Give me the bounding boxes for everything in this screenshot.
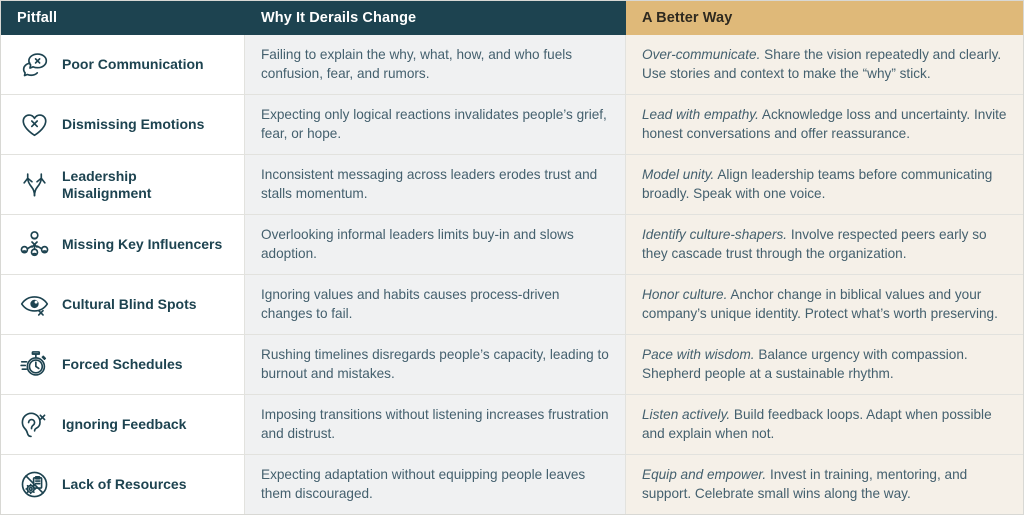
better-way-text: Honor culture. Anchor change in biblical…	[642, 286, 1009, 324]
better-way-lead: Listen actively.	[642, 407, 730, 422]
cell-a-better-way: Listen actively. Build feedback loops. A…	[626, 395, 1023, 454]
eye-x-icon	[17, 288, 51, 322]
better-way-text: Identify culture-shapers. Involve respec…	[642, 226, 1009, 264]
cell-why-it-derails-change: Ignoring values and habits causes proces…	[245, 275, 626, 334]
cell-why-it-derails-change: Expecting only logical reactions invalid…	[245, 95, 626, 154]
table-row: Cultural Blind SpotsIgnoring values and …	[1, 275, 1023, 335]
people-network-x-icon	[17, 228, 51, 262]
cell-pitfall: Poor Communication	[1, 35, 245, 94]
better-way-text: Listen actively. Build feedback loops. A…	[642, 406, 1009, 444]
cell-pitfall: Dismissing Emotions	[1, 95, 245, 154]
cell-a-better-way: Model unity. Align leadership teams befo…	[626, 155, 1023, 214]
why-text: Inconsistent messaging across leaders er…	[261, 166, 611, 204]
why-text: Imposing transitions without listening i…	[261, 406, 611, 444]
better-way-lead: Equip and empower.	[642, 467, 766, 482]
diverging-arrows-icon	[17, 168, 51, 202]
better-way-text: Over-communicate. Share the vision repea…	[642, 46, 1009, 84]
pitfall-label: Ignoring Feedback	[62, 416, 186, 433]
column-header-pitfall: Pitfall	[1, 1, 245, 35]
stopwatch-icon	[17, 348, 51, 382]
cell-pitfall: Ignoring Feedback	[1, 395, 245, 454]
cell-a-better-way: Honor culture. Anchor change in biblical…	[626, 275, 1023, 334]
heart-x-icon	[17, 108, 51, 142]
speech-bubbles-x-icon	[17, 48, 51, 82]
pitfalls-table: Pitfall Why It Derails Change A Better W…	[0, 0, 1024, 515]
pitfall-label: Lack of Resources	[62, 476, 187, 493]
why-text: Expecting only logical reactions invalid…	[261, 106, 611, 144]
why-text: Ignoring values and habits causes proces…	[261, 286, 611, 324]
no-resources-icon	[17, 468, 51, 502]
cell-pitfall: Forced Schedules	[1, 335, 245, 394]
pitfall-label: Dismissing Emotions	[62, 116, 204, 133]
ear-x-icon	[17, 408, 51, 442]
better-way-text: Model unity. Align leadership teams befo…	[642, 166, 1009, 204]
pitfall-label: Missing Key Influencers	[62, 236, 222, 253]
cell-a-better-way: Pace with wisdom. Balance urgency with c…	[626, 335, 1023, 394]
cell-a-better-way: Over-communicate. Share the vision repea…	[626, 35, 1023, 94]
better-way-lead: Identify culture-shapers.	[642, 227, 787, 242]
cell-pitfall: Leadership Misalignment	[1, 155, 245, 214]
cell-why-it-derails-change: Overlooking informal leaders limits buy-…	[245, 215, 626, 274]
better-way-lead: Over-communicate.	[642, 47, 760, 62]
better-way-lead: Lead with empathy.	[642, 107, 759, 122]
table-row: Ignoring FeedbackImposing transitions wi…	[1, 395, 1023, 455]
column-header-a-better-way: A Better Way	[626, 1, 1023, 35]
cell-a-better-way: Identify culture-shapers. Involve respec…	[626, 215, 1023, 274]
table-row: Poor CommunicationFailing to explain the…	[1, 35, 1023, 95]
cell-why-it-derails-change: Expecting adaptation without equipping p…	[245, 455, 626, 514]
better-way-lead: Pace with wisdom.	[642, 347, 755, 362]
better-way-lead: Model unity.	[642, 167, 714, 182]
cell-pitfall: Lack of Resources	[1, 455, 245, 514]
why-text: Rushing timelines disregards people’s ca…	[261, 346, 611, 384]
table-row: Leadership MisalignmentInconsistent mess…	[1, 155, 1023, 215]
cell-pitfall: Missing Key Influencers	[1, 215, 245, 274]
pitfall-label: Leadership Misalignment	[62, 168, 230, 202]
pitfall-label: Poor Communication	[62, 56, 204, 73]
table-body: Poor CommunicationFailing to explain the…	[1, 35, 1023, 514]
cell-a-better-way: Lead with empathy. Acknowledge loss and …	[626, 95, 1023, 154]
why-text: Failing to explain the why, what, how, a…	[261, 46, 611, 84]
cell-why-it-derails-change: Rushing timelines disregards people’s ca…	[245, 335, 626, 394]
table-row: Lack of ResourcesExpecting adaptation wi…	[1, 455, 1023, 514]
why-text: Expecting adaptation without equipping p…	[261, 466, 611, 504]
cell-why-it-derails-change: Inconsistent messaging across leaders er…	[245, 155, 626, 214]
table-row: Missing Key InfluencersOverlooking infor…	[1, 215, 1023, 275]
better-way-text: Lead with empathy. Acknowledge loss and …	[642, 106, 1009, 144]
table-header-row: Pitfall Why It Derails Change A Better W…	[1, 1, 1023, 35]
cell-pitfall: Cultural Blind Spots	[1, 275, 245, 334]
better-way-text: Pace with wisdom. Balance urgency with c…	[642, 346, 1009, 384]
cell-a-better-way: Equip and empower. Invest in training, m…	[626, 455, 1023, 514]
why-text: Overlooking informal leaders limits buy-…	[261, 226, 611, 264]
better-way-text: Equip and empower. Invest in training, m…	[642, 466, 1009, 504]
better-way-lead: Honor culture.	[642, 287, 727, 302]
cell-why-it-derails-change: Failing to explain the why, what, how, a…	[245, 35, 626, 94]
cell-why-it-derails-change: Imposing transitions without listening i…	[245, 395, 626, 454]
table-row: Forced SchedulesRushing timelines disreg…	[1, 335, 1023, 395]
column-header-why-it-derails-change: Why It Derails Change	[245, 1, 626, 35]
pitfall-label: Forced Schedules	[62, 356, 183, 373]
table-row: Dismissing EmotionsExpecting only logica…	[1, 95, 1023, 155]
pitfall-label: Cultural Blind Spots	[62, 296, 197, 313]
